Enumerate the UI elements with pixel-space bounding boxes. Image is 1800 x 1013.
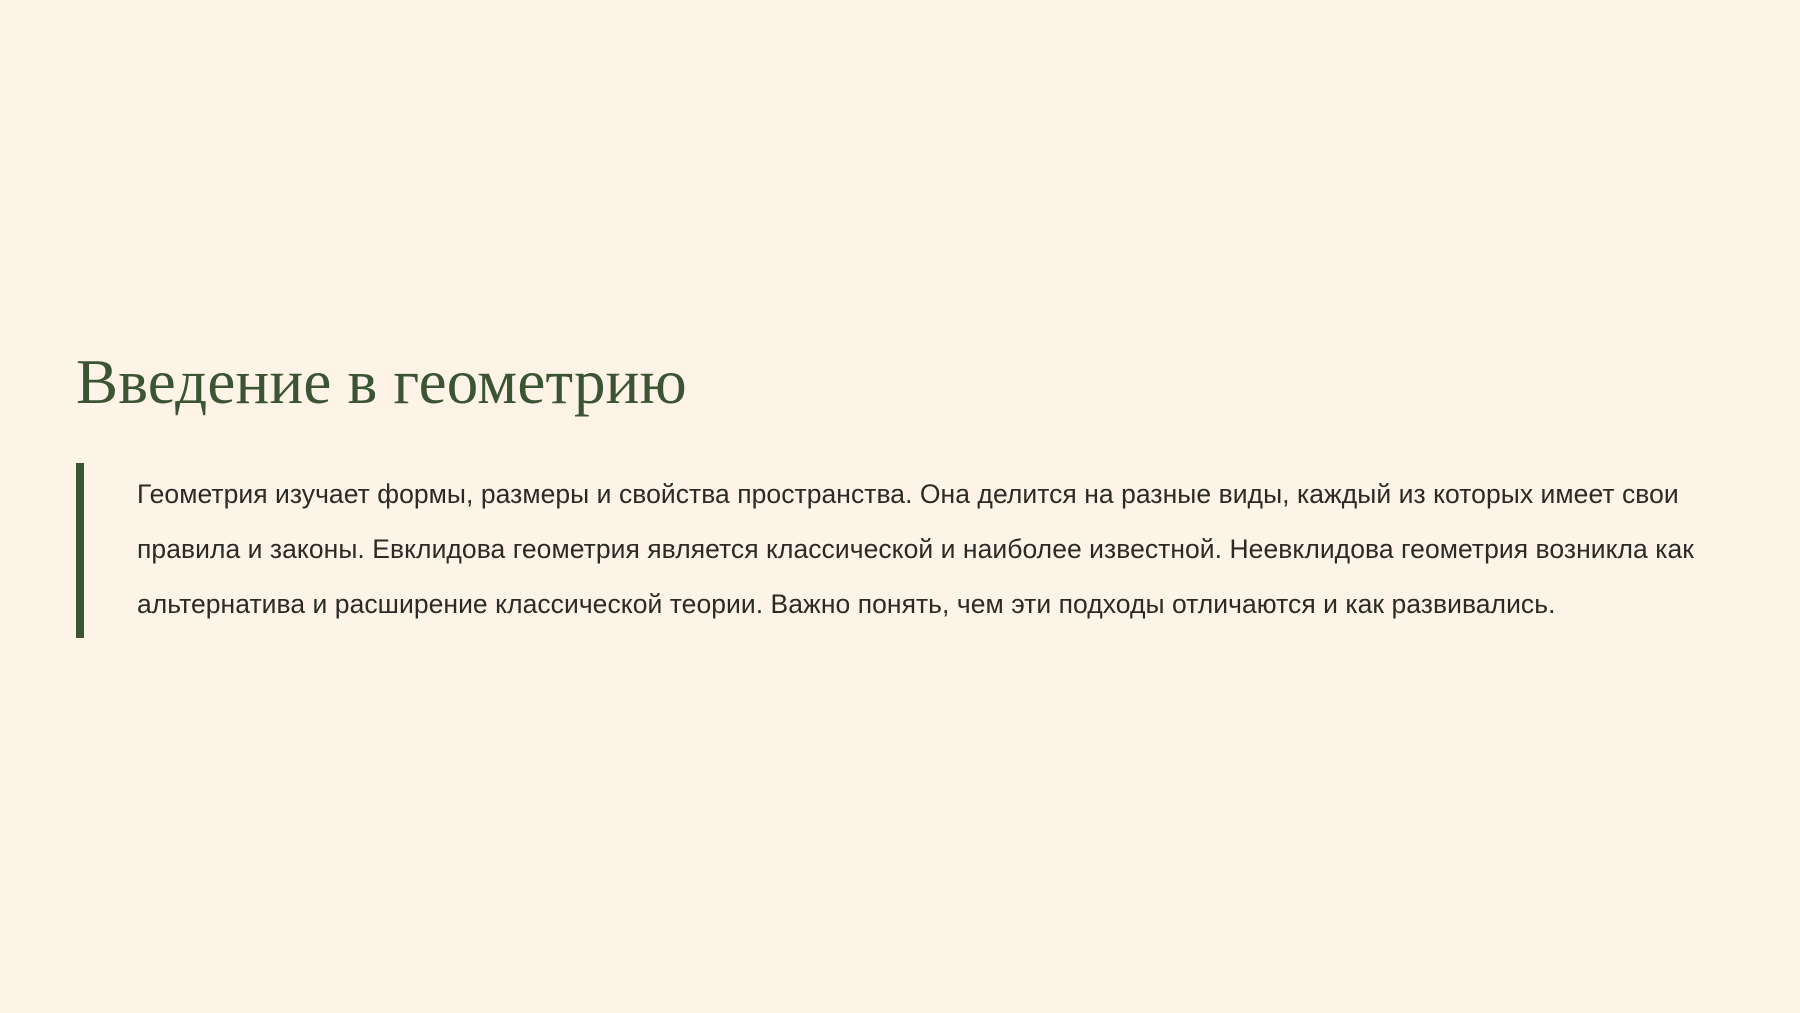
body-callout-block: Геометрия изучает формы, размеры и свойс… [76, 463, 1720, 638]
page-title: Введение в геометрию [76, 348, 687, 416]
left-accent-bar [76, 463, 84, 638]
body-paragraph: Геометрия изучает формы, размеры и свойс… [84, 463, 1720, 638]
slide-canvas: Введение в геометрию Геометрия изучает ф… [0, 0, 1800, 1013]
